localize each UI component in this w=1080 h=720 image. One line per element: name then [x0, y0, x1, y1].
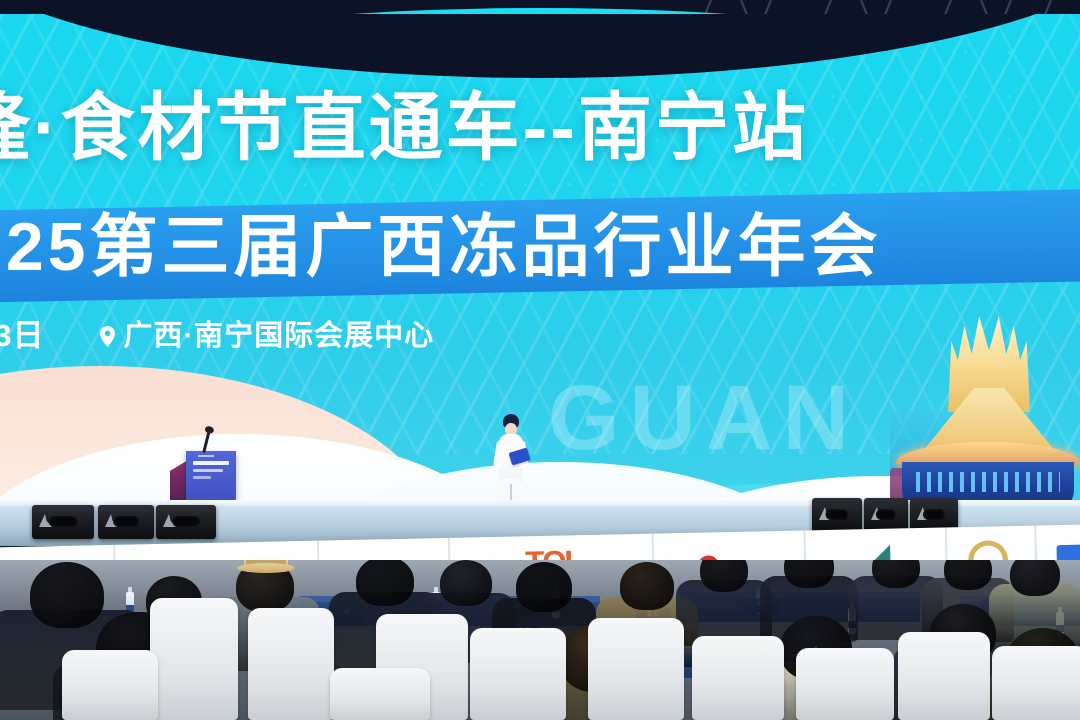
- audience-area: 刘孙永春敖永平黄智李陈王: [0, 560, 1080, 720]
- stage-led-screen: GUAN 隆·食材节直通车--南宁站 025第三届广西冻品行业年会 月23日: [0, 14, 1080, 530]
- stage-monitor-3: [156, 505, 216, 539]
- monitor-grill: [876, 509, 896, 520]
- monitor-grill: [826, 509, 849, 520]
- stage-monitor-2: [98, 505, 154, 539]
- audience-chair-2: [248, 608, 334, 720]
- conference-photo-scene: GUAN 隆·食材节直通车--南宁站 025第三届广西冻品行业年会 月23日: [0, 0, 1080, 720]
- stage-monitor-1: [32, 505, 94, 539]
- monitor-grill: [172, 516, 200, 527]
- attendee-10-head: [872, 560, 920, 588]
- podium-text-line-3: [193, 476, 211, 479]
- audience-chair-9: [992, 646, 1080, 720]
- attendee-5-head: [440, 560, 492, 606]
- monitor-grill: [923, 509, 945, 520]
- podium-top-line: [198, 455, 214, 457]
- map-pin-icon: [100, 322, 115, 343]
- audience-chair-10: [62, 650, 158, 720]
- audience-chair-11: [330, 668, 430, 720]
- banner-date: 月23日: [0, 310, 44, 355]
- banner-title: 隆·食材节直通车--南宁站: [0, 88, 996, 168]
- attendee-1-head: [30, 562, 104, 628]
- convention-center-illustration: [890, 314, 1080, 529]
- attendee-with-straw-hat: [244, 560, 288, 572]
- attendee-4-head: [356, 560, 414, 606]
- podium-text-line-2: [193, 469, 223, 472]
- podium-text-line-1: [193, 461, 229, 465]
- banner-subtitle: 025第三届广西冻品行业年会: [0, 210, 1004, 285]
- monitor-grill: [113, 516, 139, 527]
- monitor-grill: [49, 516, 78, 527]
- attendee-7-head: [620, 562, 674, 610]
- stage-monitor-4: [812, 498, 862, 532]
- audience-chair-1: [150, 598, 238, 720]
- audience-chair-4: [470, 628, 566, 720]
- audience-chair-8: [898, 632, 990, 720]
- audience-chair-6: [692, 636, 784, 720]
- stage-monitor-5: [864, 498, 908, 532]
- banner-venue-text: 广西·南宁国际会展中心: [123, 312, 434, 354]
- attendee-11-head: [944, 560, 992, 590]
- attendee-6-head: [516, 562, 572, 612]
- attendee-12-head: [1010, 560, 1060, 596]
- attendee-8-head: [700, 560, 748, 592]
- audience-chair-5: [588, 618, 684, 720]
- audience-chair-7: [796, 648, 894, 720]
- banner-info-row: 月23日 广西·南宁国际会展中心: [0, 310, 434, 355]
- banner-venue: 广西·南宁国际会展中心: [100, 312, 434, 354]
- hat-band: [246, 560, 286, 565]
